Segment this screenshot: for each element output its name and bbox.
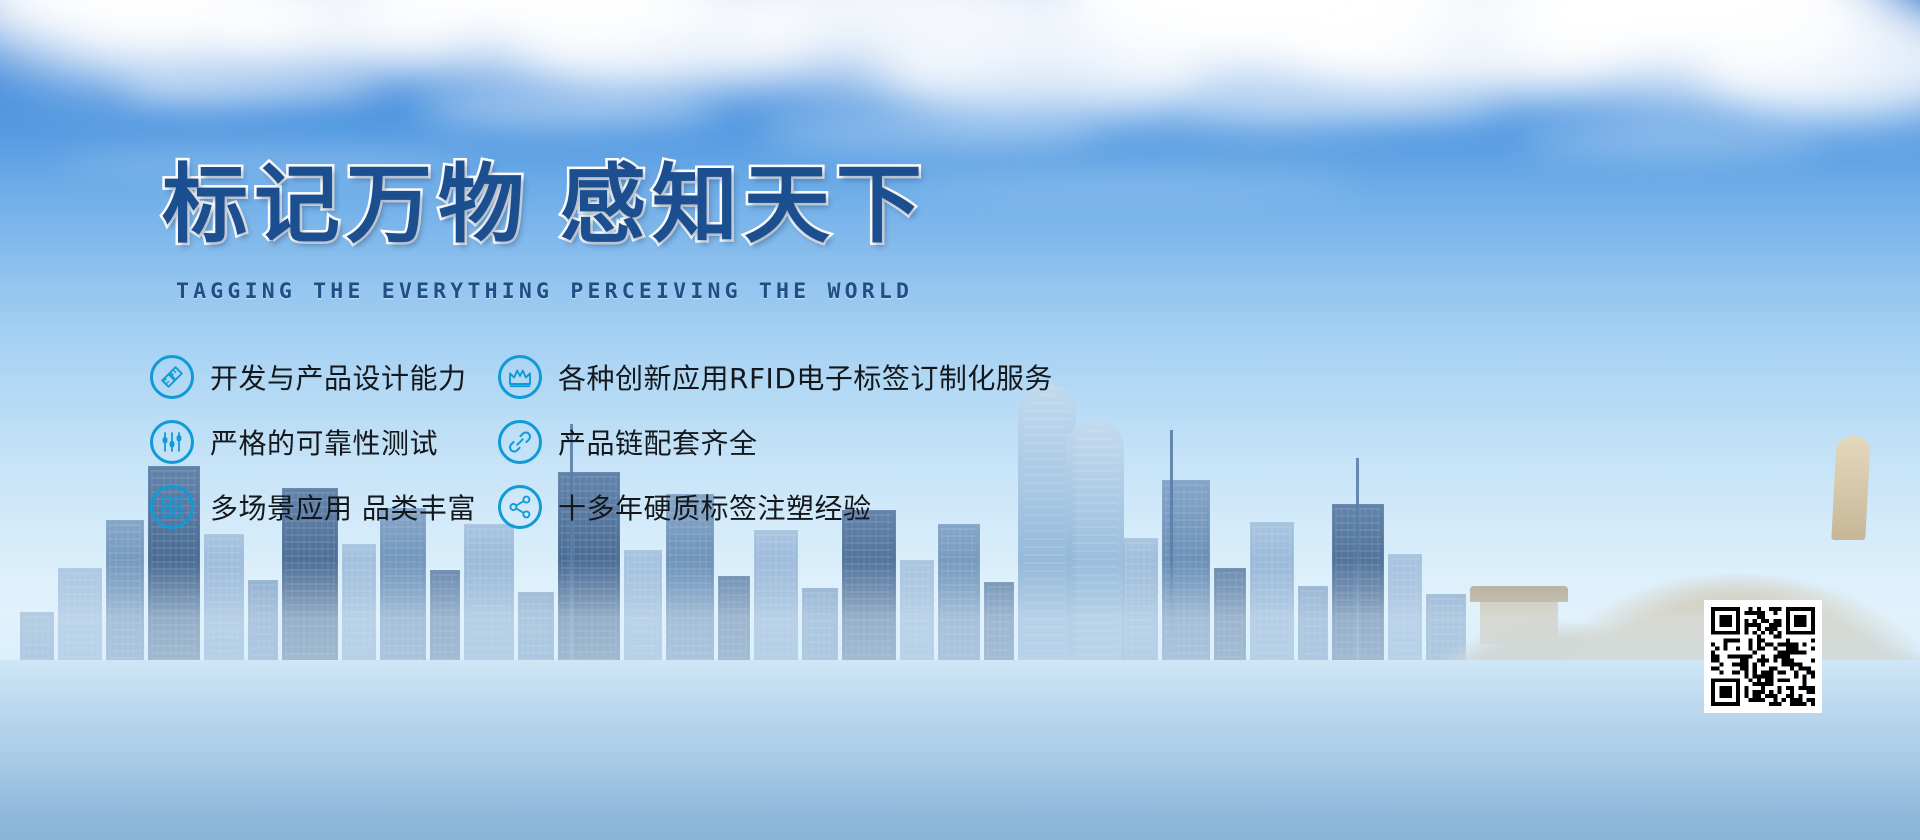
qr-code-image xyxy=(1711,607,1815,706)
feature-label: 各种创新应用RFID电子标签订制化服务 xyxy=(558,357,1053,397)
feature-label: 十多年硬质标签注塑经验 xyxy=(558,487,872,527)
feature-item-reliability-testing: 严格的可靠性测试 xyxy=(150,417,476,467)
feature-label: 多场景应用 品类丰富 xyxy=(210,487,476,527)
promo-banner: 标记万物 感知天下 TAGGING THE EVERYTHING PERCEIV… xyxy=(0,0,1920,840)
feature-item-product-chain: 产品链配套齐全 xyxy=(498,417,1053,467)
qr-code[interactable] xyxy=(1704,600,1822,713)
chain-link-icon xyxy=(498,420,542,464)
crown-icon xyxy=(498,355,542,399)
feature-item-development-design: 开发与产品设计能力 xyxy=(150,352,476,402)
grid-four-squares-icon xyxy=(150,485,194,529)
banner-subtitle: TAGGING THE EVERYTHING PERCEIVING THE WO… xyxy=(176,279,913,304)
feature-item-multi-scenario: 多场景应用 品类丰富 xyxy=(150,482,476,532)
ruler-pencil-icon xyxy=(150,355,194,399)
feature-item-rfid-customization: 各种创新应用RFID电子标签订制化服务 xyxy=(498,352,1053,402)
share-nodes-icon xyxy=(498,485,542,529)
feature-column-left: 开发与产品设计能力 严格的可靠性测试 xyxy=(150,352,476,547)
feature-label: 严格的可靠性测试 xyxy=(210,422,438,462)
feature-label: 开发与产品设计能力 xyxy=(210,357,467,397)
feature-label: 产品链配套齐全 xyxy=(558,422,758,462)
feature-column-right: 各种创新应用RFID电子标签订制化服务 产品链配套齐全 xyxy=(498,352,1053,547)
equalizer-slider-icon xyxy=(150,420,194,464)
feature-item-injection-molding-experience: 十多年硬质标签注塑经验 xyxy=(498,482,1053,532)
banner-title: 标记万物 感知天下 xyxy=(162,134,928,259)
banner-content: 标记万物 感知天下 TAGGING THE EVERYTHING PERCEIV… xyxy=(0,0,1920,840)
